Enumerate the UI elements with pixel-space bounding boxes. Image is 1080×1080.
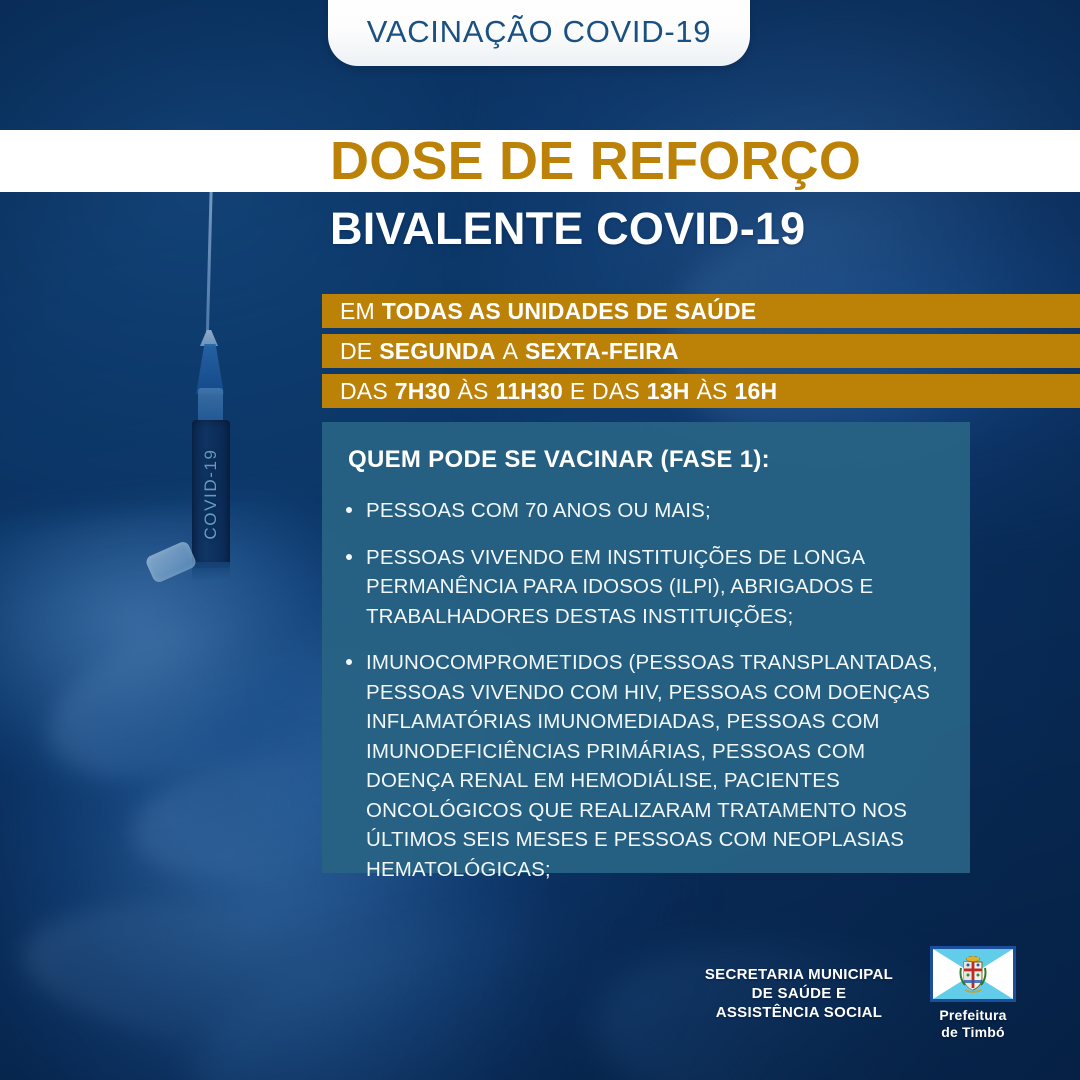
logo-caption-line-2: de Timbó [926, 1024, 1020, 1041]
flag-field [933, 949, 1013, 999]
logo-caption-line-1: Prefeitura [926, 1007, 1020, 1024]
secretariat-line-2: DE SAÚDE E [690, 984, 908, 1003]
list-item: PESSOAS COM 70 ANOS OU MAIS; [338, 496, 944, 526]
bar-hours-prefix: DAS [340, 378, 388, 405]
bar-days-end: SEXTA-FEIRA [525, 338, 679, 365]
header-badge-label: VACINAÇÃO COVID-19 [367, 14, 712, 50]
vaccination-poster: COVID-19 VACINAÇÃO COVID-19 DOSE DE REFO… [0, 0, 1080, 1080]
coat-of-arms-icon [958, 954, 988, 994]
bar-hours-afternoon-end: 16H [734, 378, 777, 405]
header-badge: VACINAÇÃO COVID-19 [328, 0, 750, 66]
bar-hours-conn-1: ÀS [457, 378, 488, 405]
city-logo: Prefeitura de Timbó [926, 946, 1020, 1041]
schedule-bar-location: EMTODAS AS UNIDADES DE SAÚDE [322, 294, 1080, 328]
bar-days-prefix: DE [340, 338, 372, 365]
secretariat-name: SECRETARIA MUNICIPAL DE SAÚDE E ASSISTÊN… [690, 965, 908, 1022]
bar-hours-afternoon-start: 13H [647, 378, 690, 405]
bullet-icon [346, 659, 352, 665]
bullet-icon [346, 554, 352, 560]
bar-hours-conn-2: E DAS [570, 378, 640, 405]
bar-location-prefix: EM [340, 298, 375, 325]
timbo-flag-icon [930, 946, 1016, 1002]
list-item-text: PESSOAS VIVENDO EM INSTITUIÇÕES DE LONGA… [366, 546, 873, 628]
list-item-text: PESSOAS COM 70 ANOS OU MAIS; [366, 499, 711, 522]
list-item-text: IMUNOCOMPROMETIDOS (PESSOAS TRANSPLANTAD… [366, 651, 938, 881]
eligibility-panel: QUEM PODE SE VACINAR (FASE 1): PESSOAS C… [322, 422, 970, 873]
bar-days-start: SEGUNDA [379, 338, 495, 365]
footer: SECRETARIA MUNICIPAL DE SAÚDE E ASSISTÊN… [690, 946, 1020, 1041]
bar-hours-morning-end: 11H30 [495, 378, 563, 405]
page-subtitle: BIVALENTE COVID-19 [330, 204, 805, 254]
bar-hours-morning-start: 7H30 [395, 378, 451, 405]
list-item: IMUNOCOMPROMETIDOS (PESSOAS TRANSPLANTAD… [338, 648, 944, 884]
bullet-icon [346, 507, 352, 513]
schedule-bars: EMTODAS AS UNIDADES DE SAÚDE DESEGUNDAAS… [322, 294, 1080, 414]
secretariat-line-1: SECRETARIA MUNICIPAL [690, 965, 908, 984]
bar-hours-conn-3: ÀS [696, 378, 727, 405]
bar-location-value: TODAS AS UNIDADES DE SAÚDE [382, 298, 757, 325]
secretariat-line-3: ASSISTÊNCIA SOCIAL [690, 1003, 908, 1022]
schedule-bar-days: DESEGUNDAASEXTA-FEIRA [322, 334, 1080, 368]
schedule-bar-hours: DAS7H30ÀS11H30E DAS13HÀS16H [322, 374, 1080, 408]
bar-days-conn: A [503, 338, 519, 365]
logo-caption: Prefeitura de Timbó [926, 1007, 1020, 1041]
eligibility-heading: QUEM PODE SE VACINAR (FASE 1): [348, 446, 944, 474]
list-item: PESSOAS VIVENDO EM INSTITUIÇÕES DE LONGA… [338, 543, 944, 632]
eligibility-list: PESSOAS COM 70 ANOS OU MAIS; PESSOAS VIV… [338, 496, 944, 884]
page-title: DOSE DE REFORÇO [330, 133, 861, 189]
